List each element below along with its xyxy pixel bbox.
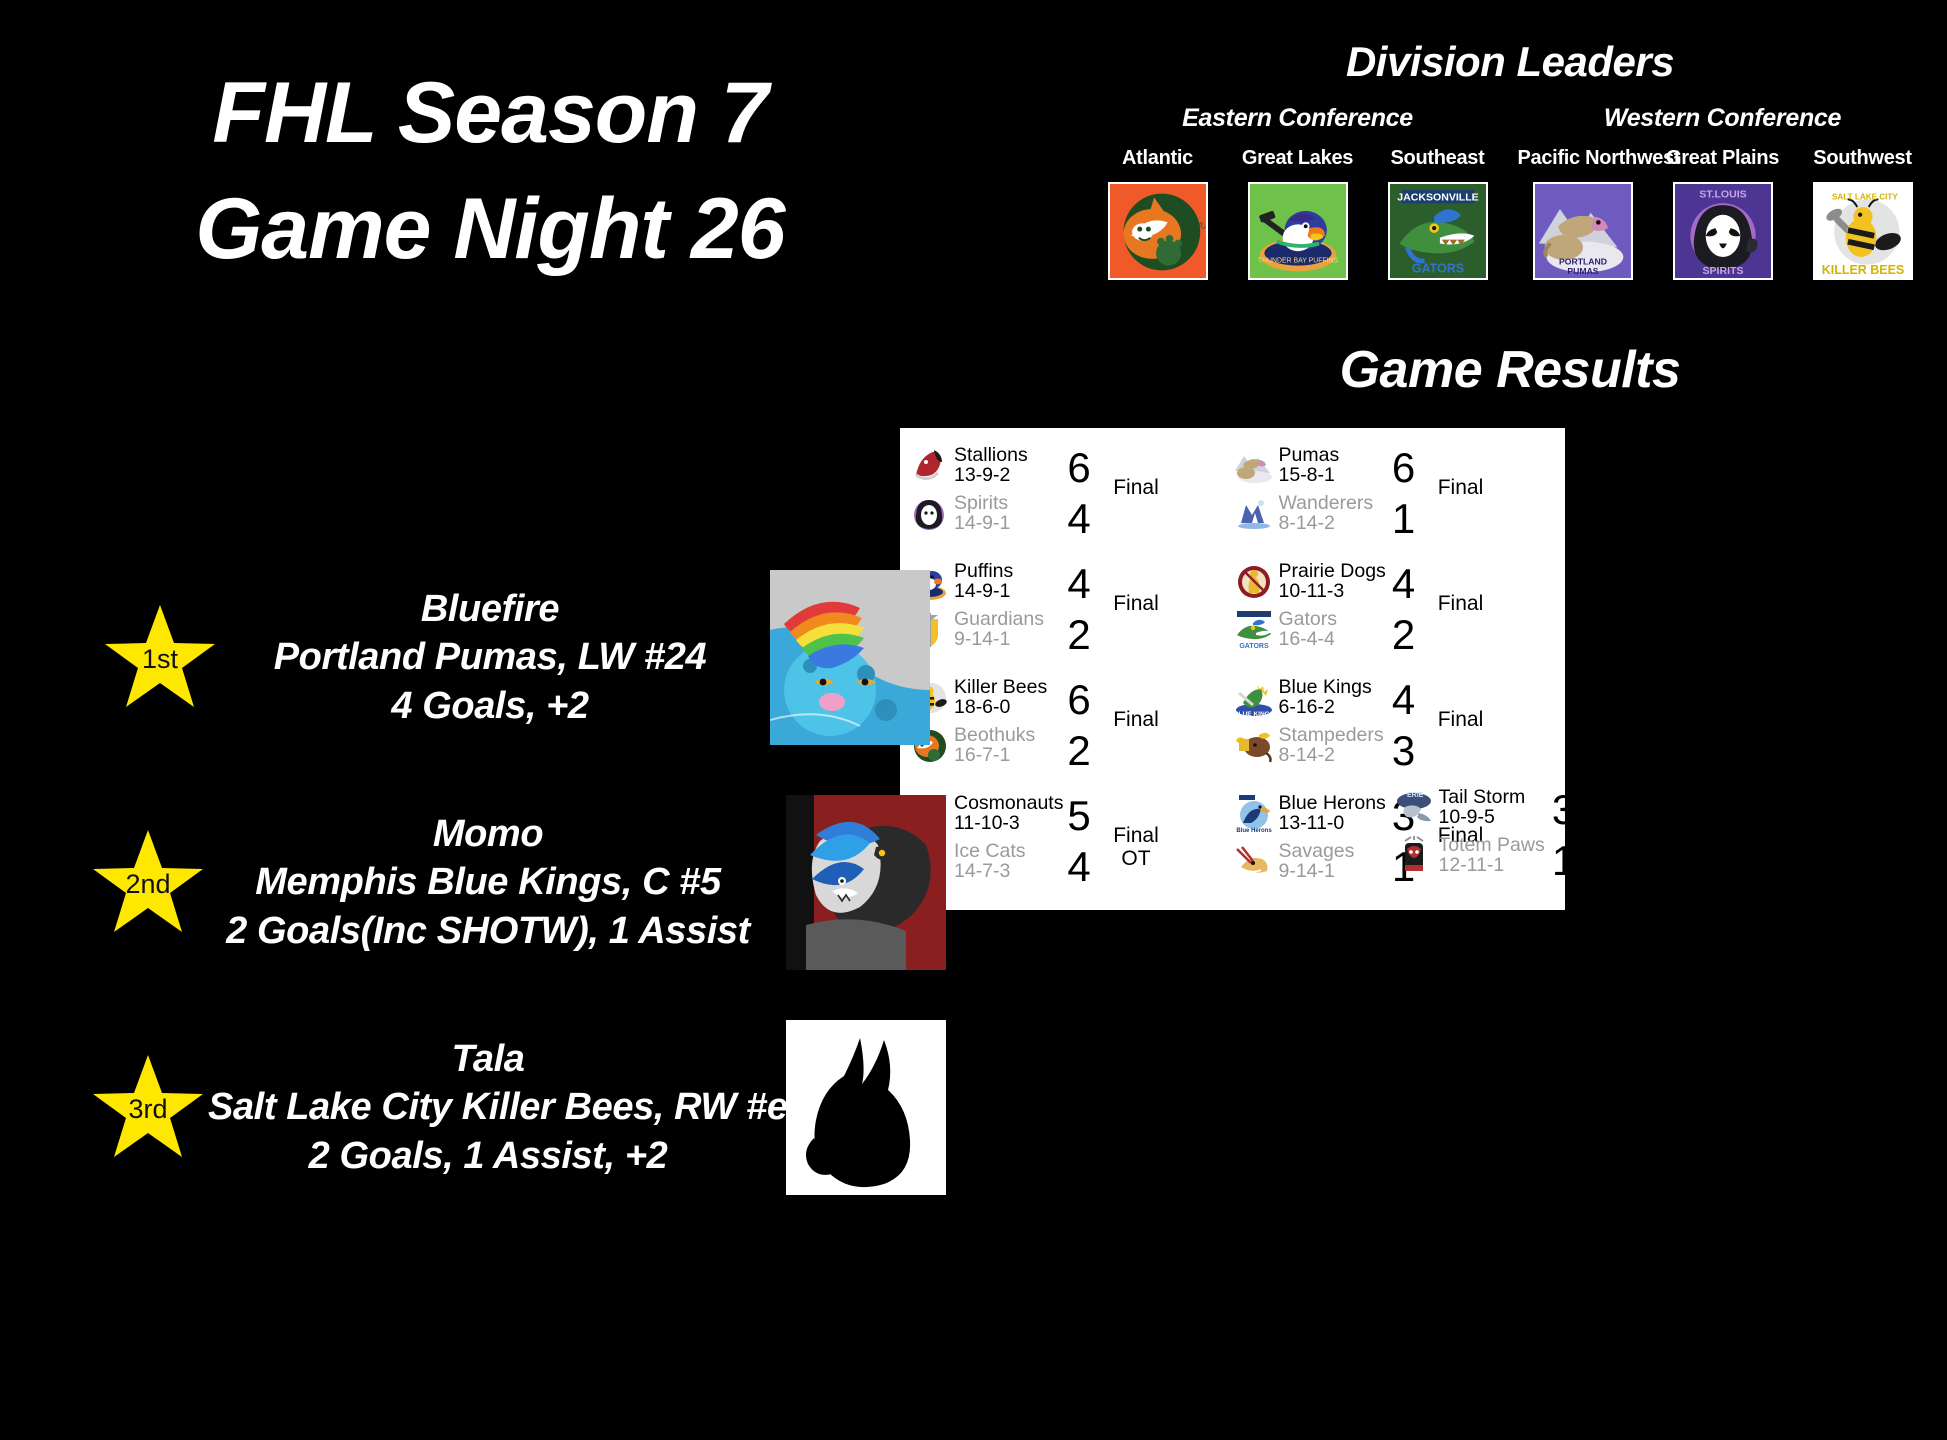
svg-text:JACKSONVILLE: JACKSONVILLE xyxy=(1397,191,1478,203)
team-row-winner: BLUE KINGS Blue Kings 6-16-2 xyxy=(1233,674,1381,722)
game-status-text: Final xyxy=(1113,824,1159,847)
division-southwest[interactable]: Southwest xyxy=(1798,147,1928,280)
spirits-logo xyxy=(908,493,950,535)
title-line-2: Game Night 26 xyxy=(100,171,880,287)
team-record: 10-11-3 xyxy=(1279,580,1345,602)
score-loser: 3 xyxy=(1381,727,1427,774)
team-record: 18-6-0 xyxy=(954,696,1010,718)
team-record: 11-10-3 xyxy=(954,812,1020,834)
svg-text:KILLER BEES: KILLER BEES xyxy=(1821,263,1903,277)
game-status: Final xyxy=(1427,674,1491,731)
western-conference: Western Conference Pacific Northwest xyxy=(1510,104,1935,280)
player-info-1: Bluefire Portland Pumas, LW #24 4 Goals,… xyxy=(220,585,760,731)
team-row-winner: Stallions 13-9-2 xyxy=(908,442,1056,490)
svg-text:BLUE KINGS: BLUE KINGS xyxy=(1233,711,1274,718)
team-record: 8-14-2 xyxy=(1279,744,1335,766)
score-winner: 6 xyxy=(1056,676,1102,723)
team-record: 9-14-1 xyxy=(1279,860,1335,882)
division-great-plains-label: Great Plains xyxy=(1658,147,1788,170)
team-record: 14-7-3 xyxy=(954,860,1010,882)
game-row-bottom[interactable]: ERIE Tail Storm 10-9-5 xyxy=(1393,784,1723,884)
game-teams: Prairie Dogs 10-11-3 GATORS Gators 16-4-… xyxy=(1233,558,1381,654)
team-row-loser: Savages 9-14-1 xyxy=(1233,838,1381,886)
team-record: 15-8-1 xyxy=(1279,464,1335,486)
team-name: Spirits xyxy=(954,492,1008,514)
star-rank-1: 1st xyxy=(100,601,220,715)
tailstorm-logo: ERIE xyxy=(1393,787,1435,829)
team-name: Blue Herons xyxy=(1279,792,1386,814)
gators-logo[interactable]: JACKSONVILLE GATORS xyxy=(1388,182,1488,280)
score-winner: 4 xyxy=(1381,676,1427,723)
game-row[interactable]: Puffins 14-9-1 Guardians 9-14-1 xyxy=(908,558,1233,658)
star-badge-2: 2nd xyxy=(88,826,208,940)
team-record: 16-7-1 xyxy=(954,744,1010,766)
team-name: Wanderers xyxy=(1279,492,1374,514)
game-status-text: Final xyxy=(1438,476,1484,499)
team-text: Stampeders 8-14-2 xyxy=(1279,726,1384,766)
game-status-text: Final xyxy=(1113,476,1159,499)
momo-avatar xyxy=(786,795,946,970)
game-row[interactable]: Cosmonauts 11-10-3 Ice Cats 14-7-3 xyxy=(908,790,1233,890)
game-results-heading: Game Results xyxy=(1085,340,1935,400)
team-record: 8-14-2 xyxy=(1279,512,1335,534)
title-line-1: FHL Season 7 xyxy=(100,55,880,171)
svg-text:ERIE: ERIE xyxy=(1407,792,1424,799)
prairiedogs-logo xyxy=(1233,561,1275,603)
game-score: 6 1 xyxy=(1381,442,1427,542)
team-record: 16-4-4 xyxy=(1279,628,1335,650)
western-division-row: Pacific Northwest PORTLAND xyxy=(1510,147,1935,280)
player-team: Salt Lake City Killer Bees, RW #e xyxy=(208,1083,768,1132)
tala-avatar-art xyxy=(786,1020,946,1195)
game-score: 4 3 xyxy=(1381,674,1427,774)
game-score: 3 1 xyxy=(1541,784,1587,884)
team-row-loser: Spirits 14-9-1 xyxy=(908,490,1056,538)
pumas-logo-art: PORTLAND PUMAS xyxy=(1535,184,1631,278)
spirits-logo[interactable]: ST.LOUIS SPIRITS xyxy=(1673,182,1773,280)
page-title: FHL Season 7 Game Night 26 xyxy=(100,55,880,287)
team-row-loser: Guardians 9-14-1 xyxy=(908,606,1056,654)
tala-avatar xyxy=(786,1020,946,1195)
game-teams: Pumas 15-8-1 Wanderers 8-14-2 xyxy=(1233,442,1381,538)
team-text: Pumas 15-8-1 xyxy=(1279,446,1340,486)
team-name: Stallions xyxy=(954,444,1028,466)
gators-logo: GATORS xyxy=(1233,609,1275,651)
star-badge-3: 3rd xyxy=(88,1051,208,1165)
player-name: Momo xyxy=(208,810,768,859)
team-name: Savages xyxy=(1279,840,1355,862)
game-teams: ERIE Tail Storm 10-9-5 xyxy=(1393,784,1541,880)
eastern-conference: Eastern Conference Atlantic xyxy=(1085,104,1510,280)
team-row-loser: Beothuks 16-7-1 xyxy=(908,722,1056,770)
division-southeast-label: Southeast xyxy=(1373,147,1503,170)
team-text: Spirits 14-9-1 xyxy=(954,494,1010,534)
player-stat: 4 Goals, +2 xyxy=(220,682,760,731)
star-badge-1: 1st xyxy=(100,601,220,715)
division-atlantic[interactable]: Atlantic xyxy=(1093,147,1223,280)
bluekings-logo: BLUE KINGS xyxy=(1233,677,1275,719)
game-score: 6 4 xyxy=(1056,442,1102,542)
score-winner: 3 xyxy=(1541,786,1587,833)
game-row[interactable]: Prairie Dogs 10-11-3 GATORS Gators 16-4-… xyxy=(1233,558,1558,658)
killerbees-logo-art: SALT LAKE CITY KILLER BEES xyxy=(1815,184,1911,278)
team-name: Blue Kings xyxy=(1279,676,1372,698)
svg-text:GATORS: GATORS xyxy=(1411,261,1463,275)
puffins-logo[interactable]: THUNDER BAY PUFFINS xyxy=(1248,182,1348,280)
team-row-winner: Pumas 15-8-1 xyxy=(1233,442,1381,490)
player-info-2: Momo Memphis Blue Kings, C #5 2 Goals(In… xyxy=(208,810,768,956)
division-great-lakes[interactable]: Great Lakes xyxy=(1233,147,1363,280)
svg-text:THUNDER BAY PUFFINS: THUNDER BAY PUFFINS xyxy=(1257,258,1338,265)
svg-text:SALT LAKE CITY: SALT LAKE CITY xyxy=(1831,192,1897,201)
pumas-logo[interactable]: PORTLAND PUMAS xyxy=(1533,182,1633,280)
team-record: 13-11-0 xyxy=(1279,812,1345,834)
svg-text:ST.LOUIS: ST.LOUIS xyxy=(1699,188,1746,200)
team-name: Prairie Dogs xyxy=(1279,560,1386,582)
pumas-logo xyxy=(1233,445,1275,487)
team-name: Pumas xyxy=(1279,444,1340,466)
western-conference-label: Western Conference xyxy=(1510,104,1935,133)
division-southeast[interactable]: Southeast JACKSONVILLE xyxy=(1373,147,1503,280)
beothuks-logo[interactable]: BEOTHUKS xyxy=(1108,182,1208,280)
team-text: Blue Kings 6-16-2 xyxy=(1279,678,1372,718)
star-rank-2: 2nd xyxy=(88,826,208,940)
score-winner: 6 xyxy=(1056,444,1102,491)
team-text: Cosmonauts 11-10-3 xyxy=(954,794,1063,834)
game-score: 4 2 xyxy=(1381,558,1427,658)
team-row-winner: Prairie Dogs 10-11-3 xyxy=(1233,558,1381,606)
beothuks-logo-art: BEOTHUKS xyxy=(1110,184,1206,278)
game-row[interactable]: Pumas 15-8-1 Wanderers 8-14-2 xyxy=(1233,442,1558,542)
game-row[interactable]: BLUE KINGS Blue Kings 6-16-2 xyxy=(1233,674,1558,774)
team-text: Gators 16-4-4 xyxy=(1279,610,1338,650)
game-results-left-column: Stallions 13-9-2 Spirits 14-9-1 xyxy=(908,442,1233,902)
division-southwest-label: Southwest xyxy=(1798,147,1928,170)
team-row-loser: Stampeders 8-14-2 xyxy=(1233,722,1381,770)
game-results-panel: Stallions 13-9-2 Spirits 14-9-1 xyxy=(900,428,1565,910)
division-pacific-northwest[interactable]: Pacific Northwest PORTLAND xyxy=(1518,147,1648,280)
team-name: Ice Cats xyxy=(954,840,1026,862)
svg-text:GATORS: GATORS xyxy=(1239,643,1269,650)
team-row-loser: Wanderers 8-14-2 xyxy=(1233,490,1381,538)
score-loser: 2 xyxy=(1056,611,1102,658)
team-text: Totem Paws 12-11-1 xyxy=(1439,836,1545,876)
score-winner: 5 xyxy=(1056,792,1102,839)
score-loser: 2 xyxy=(1381,611,1427,658)
svg-text:Blue Herons: Blue Herons xyxy=(1236,828,1272,834)
star-rank-3: 3rd xyxy=(88,1051,208,1165)
team-name: Puffins xyxy=(954,560,1013,582)
score-winner: 6 xyxy=(1381,444,1427,491)
team-name: Stampeders xyxy=(1279,724,1384,746)
totempaws-logo xyxy=(1393,835,1435,877)
stallions-logo xyxy=(908,445,950,487)
game-status: Final xyxy=(1102,442,1166,499)
team-name: Totem Paws xyxy=(1439,834,1545,856)
game-score: 5 4 xyxy=(1056,790,1102,890)
team-row-loser: GATORS Gators 16-4-4 xyxy=(1233,606,1381,654)
team-text: Wanderers 8-14-2 xyxy=(1279,494,1374,534)
game-row[interactable]: Killer Bees 18-6-0 Beothuks 16-7-1 xyxy=(908,674,1233,774)
division-pacific-northwest-label: Pacific Northwest xyxy=(1518,147,1648,170)
svg-text:PUMAS: PUMAS xyxy=(1567,266,1598,276)
division-atlantic-label: Atlantic xyxy=(1093,147,1223,170)
game-results-right-column: Pumas 15-8-1 Wanderers 8-14-2 xyxy=(1233,442,1558,902)
team-record: 12-11-1 xyxy=(1439,854,1505,876)
team-record: 6-16-2 xyxy=(1279,696,1335,718)
player-info-3: Tala Salt Lake City Killer Bees, RW #e 2… xyxy=(208,1035,768,1181)
star-player-3[interactable]: 3rd Tala Salt Lake City Killer Bees, RW … xyxy=(88,1020,946,1195)
blueherons-logo: Blue Herons xyxy=(1233,793,1275,835)
team-name: Cosmonauts xyxy=(954,792,1063,814)
game-status-text: Final xyxy=(1598,818,1644,841)
score-loser: 4 xyxy=(1056,495,1102,542)
team-text: Beothuks 16-7-1 xyxy=(954,726,1035,766)
score-loser: 1 xyxy=(1381,495,1427,542)
division-great-plains[interactable]: Great Plains ST.LOUIS xyxy=(1658,147,1788,280)
stampeders-logo xyxy=(1233,725,1275,767)
team-name: Beothuks xyxy=(954,724,1035,746)
bluefire-avatar-art xyxy=(770,570,930,745)
game-row[interactable]: Stallions 13-9-2 Spirits 14-9-1 xyxy=(908,442,1233,542)
momo-avatar-art xyxy=(786,795,946,970)
game-teams: Puffins 14-9-1 Guardians 9-14-1 xyxy=(908,558,1056,654)
player-team: Memphis Blue Kings, C #5 xyxy=(208,858,768,907)
game-teams: Stallions 13-9-2 Spirits 14-9-1 xyxy=(908,442,1056,538)
team-record: 14-9-1 xyxy=(954,580,1010,602)
team-name: Killer Bees xyxy=(954,676,1047,698)
game-status: Final xyxy=(1427,442,1491,499)
player-name: Bluefire xyxy=(220,585,760,634)
score-winner: 4 xyxy=(1381,560,1427,607)
score-loser: 1 xyxy=(1541,837,1587,884)
team-text: Puffins 14-9-1 xyxy=(954,562,1013,602)
wanderers-logo xyxy=(1233,493,1275,535)
team-text: Prairie Dogs 10-11-3 xyxy=(1279,562,1386,602)
puffins-logo-art: THUNDER BAY PUFFINS xyxy=(1250,184,1346,278)
player-name: Tala xyxy=(208,1035,768,1084)
star-player-1[interactable]: 1st Bluefire Portland Pumas, LW #24 4 Go… xyxy=(100,570,930,745)
team-record: 9-14-1 xyxy=(954,628,1010,650)
star-player-2[interactable]: 2nd Momo Memphis Blue Kings, C #5 2 Goal… xyxy=(88,795,946,970)
game-status: Final xyxy=(1102,558,1166,615)
division-great-lakes-label: Great Lakes xyxy=(1233,147,1363,170)
team-row-winner: Puffins 14-9-1 xyxy=(908,558,1056,606)
poster-root: FHL Season 7 Game Night 26 Division Lead… xyxy=(0,0,1947,1440)
game-status-text: Final xyxy=(1438,592,1484,615)
conference-row: Eastern Conference Atlantic xyxy=(1085,104,1935,280)
game-status-text: Final xyxy=(1438,708,1484,731)
division-leaders-heading: Division Leaders xyxy=(1085,38,1935,86)
game-score: 6 2 xyxy=(1056,674,1102,774)
score-loser: 4 xyxy=(1056,843,1102,890)
game-status-text: Final xyxy=(1113,708,1159,731)
team-text: Blue Herons 13-11-0 xyxy=(1279,794,1386,834)
gators-logo-art: JACKSONVILLE GATORS xyxy=(1390,184,1486,278)
team-record: 13-9-2 xyxy=(954,464,1010,486)
team-name: Tail Storm xyxy=(1439,786,1526,808)
game-status-ot: OT xyxy=(1106,847,1166,870)
savages-logo xyxy=(1233,841,1275,883)
team-record: 14-9-1 xyxy=(954,512,1010,534)
eastern-division-row: Atlantic xyxy=(1085,147,1510,280)
player-stat: 2 Goals, 1 Assist, +2 xyxy=(208,1132,768,1181)
team-row-winner: Killer Bees 18-6-0 xyxy=(908,674,1056,722)
spirits-logo-art: ST.LOUIS SPIRITS xyxy=(1675,184,1771,278)
team-row-loser: Totem Paws 12-11-1 xyxy=(1393,832,1541,880)
player-team: Portland Pumas, LW #24 xyxy=(220,633,760,682)
game-teams: Blue Herons Blue Herons 13-11-0 xyxy=(1233,790,1381,886)
game-status-text: Final xyxy=(1113,592,1159,615)
svg-text:PORTLAND: PORTLAND xyxy=(1559,257,1607,267)
team-name: Gators xyxy=(1279,608,1338,630)
game-score: 4 2 xyxy=(1056,558,1102,658)
team-text: Killer Bees 18-6-0 xyxy=(954,678,1047,718)
game-teams: Killer Bees 18-6-0 Beothuks 16-7-1 xyxy=(908,674,1056,770)
svg-text:SPIRITS: SPIRITS xyxy=(1702,265,1743,277)
team-row-winner: ERIE Tail Storm 10-9-5 xyxy=(1393,784,1541,832)
team-text: Ice Cats 14-7-3 xyxy=(954,842,1026,882)
team-text: Stallions 13-9-2 xyxy=(954,446,1028,486)
score-winner: 4 xyxy=(1056,560,1102,607)
team-text: Guardians 9-14-1 xyxy=(954,610,1044,650)
killerbees-logo[interactable]: SALT LAKE CITY KILLER BEES xyxy=(1813,182,1913,280)
game-status: Final xyxy=(1427,558,1491,615)
player-stat: 2 Goals(Inc SHOTW), 1 Assist xyxy=(208,907,768,956)
bluefire-avatar xyxy=(770,570,930,745)
team-text: Tail Storm 10-9-5 xyxy=(1439,788,1526,828)
team-text: Savages 9-14-1 xyxy=(1279,842,1355,882)
team-row-winner: Blue Herons Blue Herons 13-11-0 xyxy=(1233,790,1381,838)
team-record: 10-9-5 xyxy=(1439,806,1495,828)
division-leaders-section: Division Leaders Eastern Conference Atla… xyxy=(1085,38,1935,280)
game-status: Final xyxy=(1102,674,1166,731)
game-teams: BLUE KINGS Blue Kings 6-16-2 xyxy=(1233,674,1381,770)
score-loser: 2 xyxy=(1056,727,1102,774)
eastern-conference-label: Eastern Conference xyxy=(1085,104,1510,133)
team-name: Guardians xyxy=(954,608,1044,630)
game-status: Final OT xyxy=(1102,790,1166,870)
game-status: Final xyxy=(1587,784,1651,841)
